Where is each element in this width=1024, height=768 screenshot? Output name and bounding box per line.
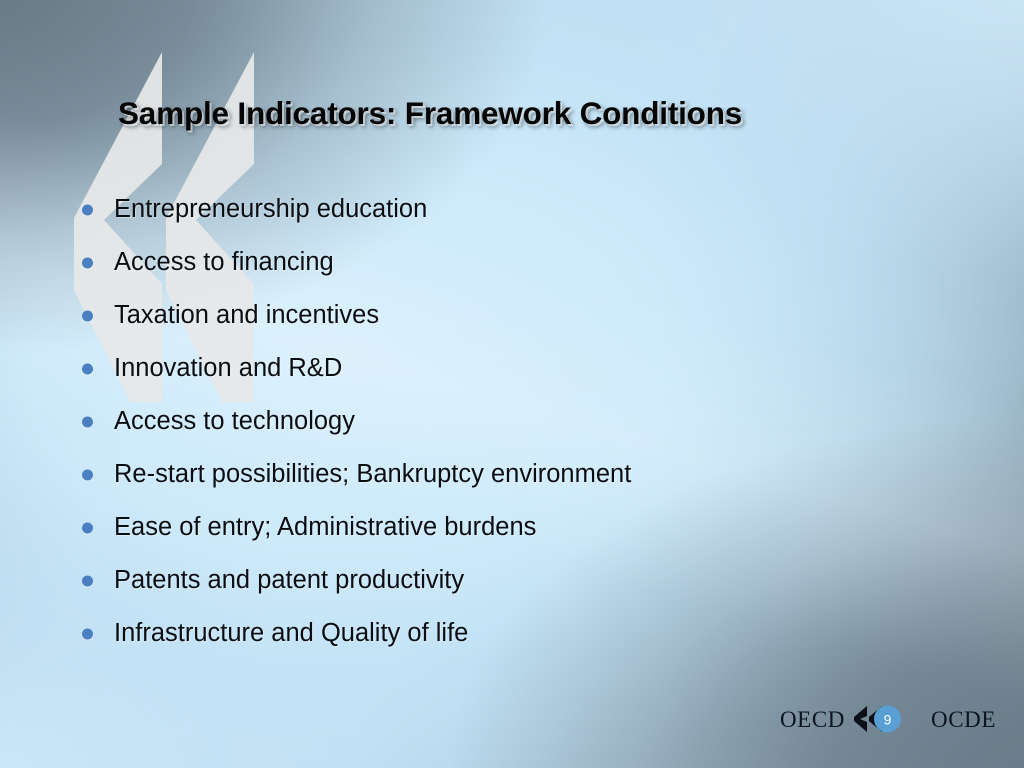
- bullet-point-icon: [82, 522, 93, 533]
- list-item: Patents and patent productivity: [74, 554, 954, 607]
- bullet-point-icon: [82, 416, 93, 427]
- bullet-list: Entrepreneurship education Access to fin…: [74, 183, 954, 660]
- list-item: Ease of entry; Administrative burdens: [74, 501, 954, 554]
- list-item: Access to technology: [74, 395, 954, 448]
- slide: Sample Indicators: Framework Conditions …: [0, 0, 1024, 768]
- list-item-label: Innovation and R&D: [114, 354, 342, 382]
- list-item: Infrastructure and Quality of life: [74, 607, 954, 660]
- bullet-point-icon: [82, 363, 93, 374]
- list-item-label: Access to technology: [114, 407, 355, 435]
- list-item: Re-start possibilities; Bankruptcy envir…: [74, 448, 954, 501]
- oecd-logo: OECD 9 OCDE: [780, 704, 996, 734]
- list-item-label: Taxation and incentives: [114, 301, 379, 329]
- page-title: Sample Indicators: Framework Conditions: [118, 95, 938, 131]
- bullet-point-icon: [82, 310, 93, 321]
- slide-number-badge: 9: [874, 706, 901, 733]
- list-item: Access to financing: [74, 236, 954, 289]
- list-item-label: Ease of entry; Administrative burdens: [114, 513, 536, 541]
- oecd-logo-mark: 9: [852, 704, 924, 734]
- list-item-label: Infrastructure and Quality of life: [114, 619, 468, 647]
- list-item-label: Entrepreneurship education: [114, 195, 427, 223]
- list-item: Entrepreneurship education: [74, 183, 954, 236]
- bullet-point-icon: [82, 204, 93, 215]
- bullet-point-icon: [82, 469, 93, 480]
- oecd-logo-text-right: OCDE: [931, 708, 996, 731]
- list-item: Taxation and incentives: [74, 289, 954, 342]
- bullet-point-icon: [82, 575, 93, 586]
- oecd-logo-text-left: OECD: [780, 708, 845, 731]
- bullet-point-icon: [82, 257, 93, 268]
- bullet-point-icon: [82, 628, 93, 639]
- list-item-label: Access to financing: [114, 248, 334, 276]
- list-item: Innovation and R&D: [74, 342, 954, 395]
- list-item-label: Re-start possibilities; Bankruptcy envir…: [114, 460, 631, 488]
- list-item-label: Patents and patent productivity: [114, 566, 464, 594]
